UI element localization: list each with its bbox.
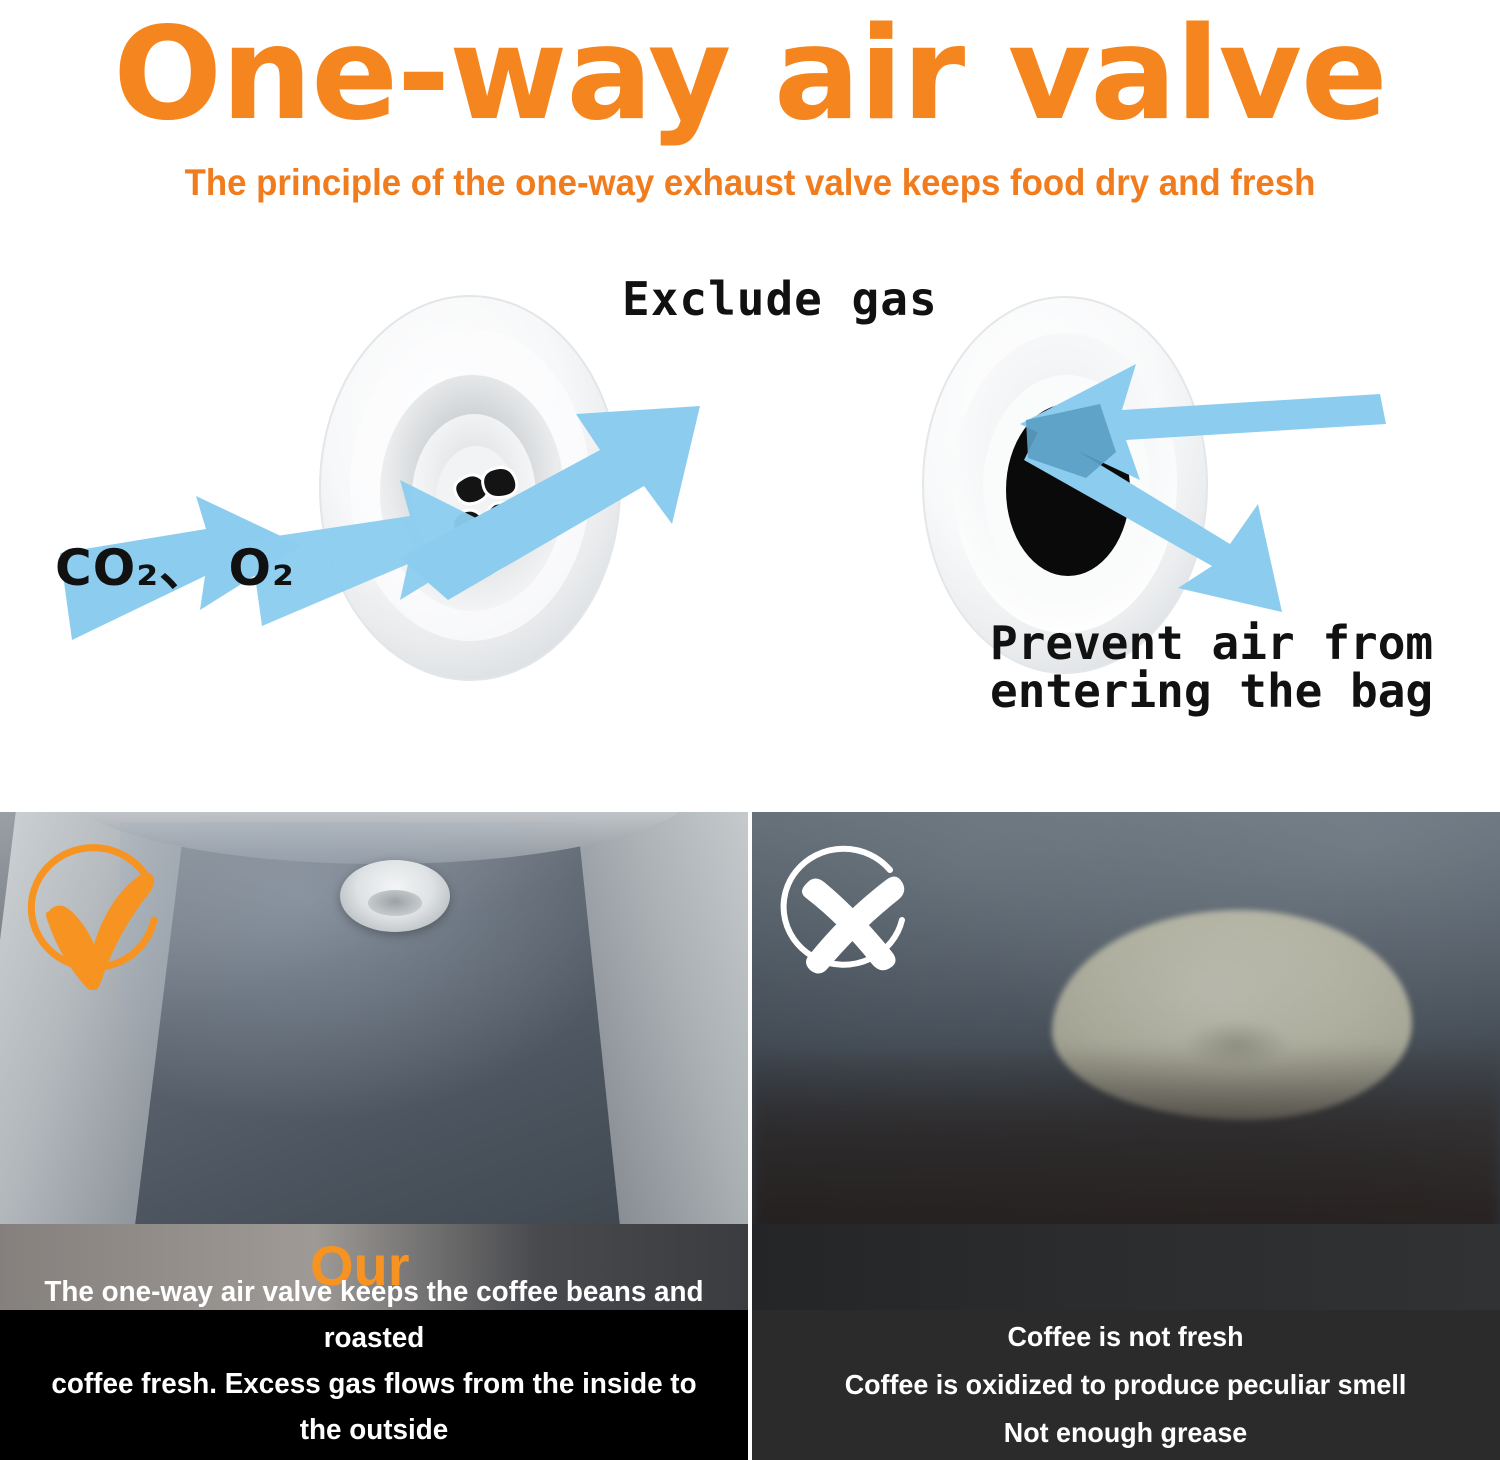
comparison-section: Our The one-way air valve keeps the coff… [0, 812, 1500, 1460]
page-subtitle: The principle of the one-way exhaust val… [45, 163, 1455, 204]
page-title: One-way air valve [0, 8, 1500, 142]
others-caption-line-2: Coffee is oxidized to produce peculiar s… [845, 1361, 1407, 1409]
our-caption: The one-way air valve keeps the coffee b… [0, 1310, 748, 1460]
others-caption-line-1: Coffee is not fresh [845, 1313, 1407, 1361]
exclude-gas-label: Exclude gas [622, 272, 938, 326]
prevent-air-line-2: entering the bag [990, 668, 1433, 716]
valve-diagram-section: Exclude gas CO₂、 O₂ Prevent air from ent… [0, 228, 1500, 812]
header: One-way air valve The principle of the o… [0, 0, 1500, 228]
prevent-air-line-1: Prevent air from [990, 620, 1433, 668]
prevent-air-label: Prevent air from entering the bag [990, 620, 1433, 716]
others-caption-line-3: Not enough grease [845, 1409, 1407, 1457]
others-caption: Coffee is not fresh Coffee is oxidized t… [752, 1310, 1500, 1460]
check-badge [18, 840, 168, 990]
cross-badge [770, 840, 920, 990]
infographic-page: One-way air valve The principle of the o… [0, 0, 1500, 1460]
others-brand-band: Others [752, 1224, 1500, 1310]
others-product-photo [752, 812, 1500, 1224]
valve-on-bag [340, 860, 450, 932]
our-panel: Our The one-way air valve keeps the coff… [0, 812, 748, 1460]
open-valve-illustration [290, 288, 650, 688]
our-caption-line-1: The one-way air valve keeps the coffee b… [44, 1270, 704, 1362]
our-product-photo [0, 812, 748, 1224]
others-panel: Others Coffee is not fresh Coffee is oxi… [752, 812, 1500, 1460]
our-caption-line-2: coffee fresh. Excess gas flows from the … [44, 1362, 704, 1454]
gases-label-text: CO₂、 O₂ [55, 539, 295, 597]
our-caption-line-3: without returning gas, keeping food fres… [44, 1454, 704, 1460]
gases-label: CO₂、 O₂ [55, 528, 295, 600]
